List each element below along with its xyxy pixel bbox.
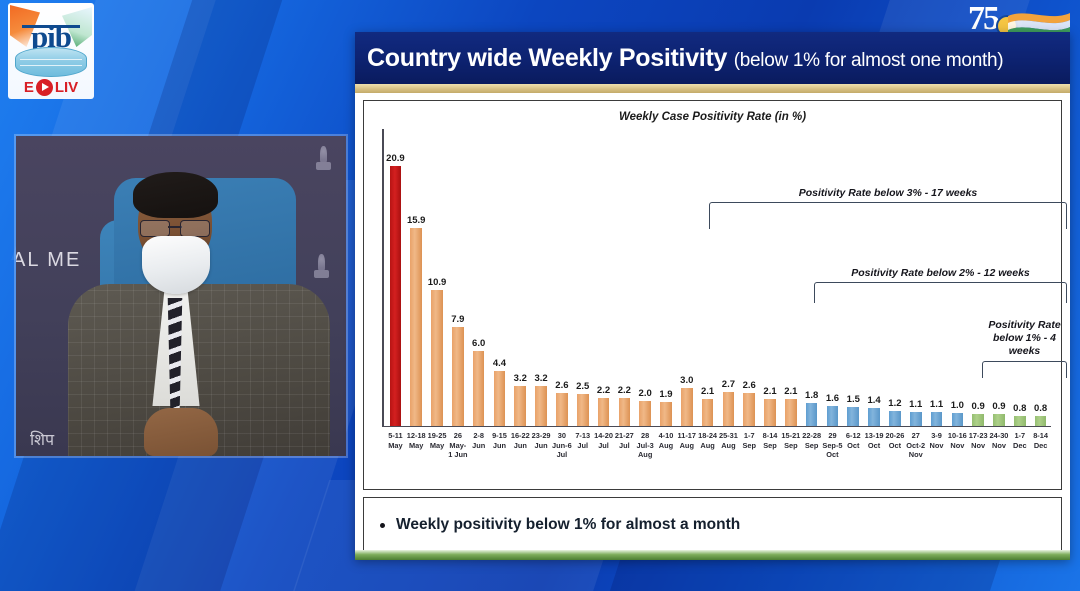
live-badge: E LIV [8, 77, 94, 97]
bar-value-label: 1.8 [805, 390, 818, 401]
bar-group: 3.0 [676, 135, 697, 426]
bar-value-label: 2.6 [555, 380, 568, 391]
bar-group: 0.8 [1030, 135, 1051, 426]
bullet-text: Weekly positivity below 1% for almost a … [396, 516, 740, 534]
bar-value-label: 2.1 [763, 386, 776, 397]
bar-value-label: 7.9 [451, 314, 464, 325]
bar-value-label: 2.7 [722, 379, 735, 390]
bar-value-label: 4.4 [493, 358, 506, 369]
bar [681, 388, 693, 425]
bar [972, 414, 984, 425]
x-tick-label: 5-11 May [385, 429, 406, 483]
bar-value-label: 2.6 [743, 380, 756, 391]
bar-group: 2.7 [718, 135, 739, 426]
bar [931, 412, 943, 426]
chart-subtitle: Weekly Case Positivity Rate (in %) [364, 111, 1061, 123]
x-tick-label: 27 Oct-2 Nov [905, 429, 926, 483]
x-tick-label: 24-30 Nov [989, 429, 1010, 483]
bar-group: 15.9 [406, 135, 427, 426]
bar-group: 1.9 [656, 135, 677, 426]
x-tick-label: 30 Jun-6 Jul [552, 429, 573, 483]
speaker-hands [144, 408, 218, 456]
bar [868, 408, 880, 425]
bar [723, 392, 735, 426]
x-axis-labels: 5-11 May12-18 May19-25 May26 May- 1 Jun2… [385, 429, 1051, 483]
bar-value-label: 1.6 [826, 393, 839, 404]
bar [660, 402, 672, 426]
bar-group: 1.1 [905, 135, 926, 426]
x-tick-label: 29 Sep-5 Oct [822, 429, 843, 483]
bar-group: 1.5 [843, 135, 864, 426]
x-tick-label: 7-13 Jul [572, 429, 593, 483]
bar-value-label: 1.4 [867, 395, 880, 406]
bar-value-label: 2.0 [639, 388, 652, 399]
bar [743, 393, 755, 425]
bar-value-label: 0.9 [992, 401, 1005, 412]
x-tick-label: 9-15 Jun [489, 429, 510, 483]
x-tick-label: 16-22 Jun [510, 429, 531, 483]
bar-group: 0.9 [968, 135, 989, 426]
bar-value-label: 1.1 [909, 399, 922, 410]
bar-value-label: 1.9 [659, 389, 672, 400]
state-emblem-icon [313, 254, 330, 280]
x-tick-label: 8-14 Sep [760, 429, 781, 483]
eyeglasses-icon [140, 220, 210, 235]
x-tick-label: 1-7 Sep [739, 429, 760, 483]
bar-value-label: 1.5 [847, 394, 860, 405]
bar [639, 401, 651, 426]
bar-group: 2.2 [614, 135, 635, 426]
bar-value-label: 2.2 [597, 385, 610, 396]
speaker-hair [133, 172, 218, 218]
green-footer-band [355, 550, 1070, 560]
slide-title: Country wide Weekly Positivity (below 1%… [367, 44, 1003, 73]
bar [598, 398, 610, 425]
bar [452, 327, 464, 425]
bar [910, 412, 922, 426]
bar [952, 413, 964, 425]
bar-group: 6.0 [468, 135, 489, 426]
bar-group: 2.0 [635, 135, 656, 426]
bar [556, 393, 568, 425]
plot-area: 20.915.910.97.96.04.43.23.22.62.52.22.22… [382, 135, 1051, 427]
x-tick-label: 15-21 Sep [780, 429, 801, 483]
x-tick-label: 8-14 Dec [1030, 429, 1051, 483]
bar-value-label: 1.1 [930, 399, 943, 410]
play-icon [36, 79, 53, 96]
bar [785, 399, 797, 425]
backdrop-hindi-text: शिप [30, 428, 54, 450]
bar-group: 1.8 [801, 135, 822, 426]
bar-value-label: 3.0 [680, 375, 693, 386]
bar [1014, 416, 1026, 426]
bar-value-label: 3.2 [514, 373, 527, 384]
x-tick-label: 20-26 Oct [885, 429, 906, 483]
bar-group: 2.1 [697, 135, 718, 426]
bar-group: 10.9 [427, 135, 448, 426]
bar-value-label: 2.5 [576, 381, 589, 392]
x-tick-label: 6-12 Oct [843, 429, 864, 483]
bar-group: 1.0 [947, 135, 968, 426]
live-text-right: LIV [55, 79, 78, 96]
slide-title-main: Country wide Weekly Positivity [367, 44, 727, 72]
slide-title-sub: (below 1% for almost one month) [734, 50, 1004, 71]
bar-value-label: 2.2 [618, 385, 631, 396]
bar-group: 0.8 [1009, 135, 1030, 426]
x-tick-label: 4-10 Aug [656, 429, 677, 483]
bar-group: 3.2 [531, 135, 552, 426]
bar-group: 1.4 [864, 135, 885, 426]
x-tick-label: 3-9 Nov [926, 429, 947, 483]
bar [514, 386, 526, 426]
x-tick-label: 28 Jul-3 Aug [635, 429, 656, 483]
bar [847, 407, 859, 426]
bar-group: 7.9 [447, 135, 468, 426]
bar [535, 386, 547, 426]
slide-header: Country wide Weekly Positivity (below 1%… [355, 32, 1070, 84]
gold-divider [355, 84, 1070, 93]
bar-group: 3.2 [510, 135, 531, 426]
x-tick-label: 21-27 Jul [614, 429, 635, 483]
live-text-left: E [24, 79, 34, 96]
bar [577, 394, 589, 425]
bar [764, 399, 776, 425]
x-tick-label: 17-23 Nov [968, 429, 989, 483]
x-tick-label: 2-8 Jun [468, 429, 489, 483]
bar-group: 4.4 [489, 135, 510, 426]
bar [889, 411, 901, 426]
x-tick-label: 10-16 Nov [947, 429, 968, 483]
bar-group: 2.1 [780, 135, 801, 426]
bar-value-label: 20.9 [386, 153, 405, 164]
bar-value-label: 3.2 [534, 373, 547, 384]
x-tick-label: 18-24 Aug [697, 429, 718, 483]
bar-group: 2.1 [760, 135, 781, 426]
y-axis [382, 129, 384, 427]
x-tick-label: 23-29 Jun [531, 429, 552, 483]
bar [431, 290, 443, 425]
live-video-feed: AL ME शिप [16, 136, 346, 456]
bar [702, 399, 714, 425]
bar-group: 2.2 [593, 135, 614, 426]
bar-group: 0.9 [989, 135, 1010, 426]
face-mask-icon [15, 47, 87, 77]
presentation-slide: Country wide Weekly Positivity (below 1%… [355, 32, 1070, 560]
x-tick-label: 26 May- 1 Jun [447, 429, 468, 483]
x-tick-label: 14-20 Jul [593, 429, 614, 483]
bar-group: 1.2 [885, 135, 906, 426]
bar-value-label: 1.2 [888, 398, 901, 409]
bullet-icon [380, 523, 385, 528]
bar-series: 20.915.910.97.96.04.43.23.22.62.52.22.22… [385, 135, 1051, 426]
x-tick-label: 12-18 May [406, 429, 427, 483]
x-axis [382, 426, 1051, 428]
state-emblem-icon [315, 146, 332, 172]
bar-value-label: 15.9 [407, 215, 426, 226]
bar-group: 2.6 [739, 135, 760, 426]
bar [827, 406, 839, 426]
bar-value-label: 1.0 [951, 400, 964, 411]
bar [619, 398, 631, 425]
bar-value-label: 6.0 [472, 338, 485, 349]
bar-group: 20.9 [385, 135, 406, 426]
x-tick-label: 22-28 Sep [801, 429, 822, 483]
pib-logo: pib E LIV [8, 3, 94, 99]
chart-container: Weekly Case Positivity Rate (in %) Posit… [363, 100, 1062, 490]
bar-value-label: 2.1 [784, 386, 797, 397]
bar-group: 2.6 [552, 135, 573, 426]
bar [410, 228, 422, 425]
bar [473, 351, 485, 425]
x-tick-label: 1-7 Dec [1009, 429, 1030, 483]
speaker-face-mask [142, 236, 210, 294]
bar-value-label: 0.9 [972, 401, 985, 412]
bar [494, 371, 506, 426]
bar-value-label: 2.1 [701, 386, 714, 397]
bar [1035, 416, 1047, 426]
bar-value-label: 10.9 [428, 277, 447, 288]
bar-group: 1.6 [822, 135, 843, 426]
x-tick-label: 11-17 Aug [676, 429, 697, 483]
bar-value-label: 0.8 [1034, 403, 1047, 414]
backdrop-text: AL ME [16, 249, 81, 272]
x-tick-label: 19-25 May [427, 429, 448, 483]
x-tick-label: 13-19 Oct [864, 429, 885, 483]
bar [993, 414, 1005, 425]
bar [390, 166, 402, 425]
key-takeaway-box: Weekly positivity below 1% for almost a … [363, 497, 1062, 553]
bar-group: 2.5 [572, 135, 593, 426]
x-tick-label: 25-31 Aug [718, 429, 739, 483]
bar [806, 403, 818, 425]
bar-value-label: 0.8 [1013, 403, 1026, 414]
bar-group: 1.1 [926, 135, 947, 426]
